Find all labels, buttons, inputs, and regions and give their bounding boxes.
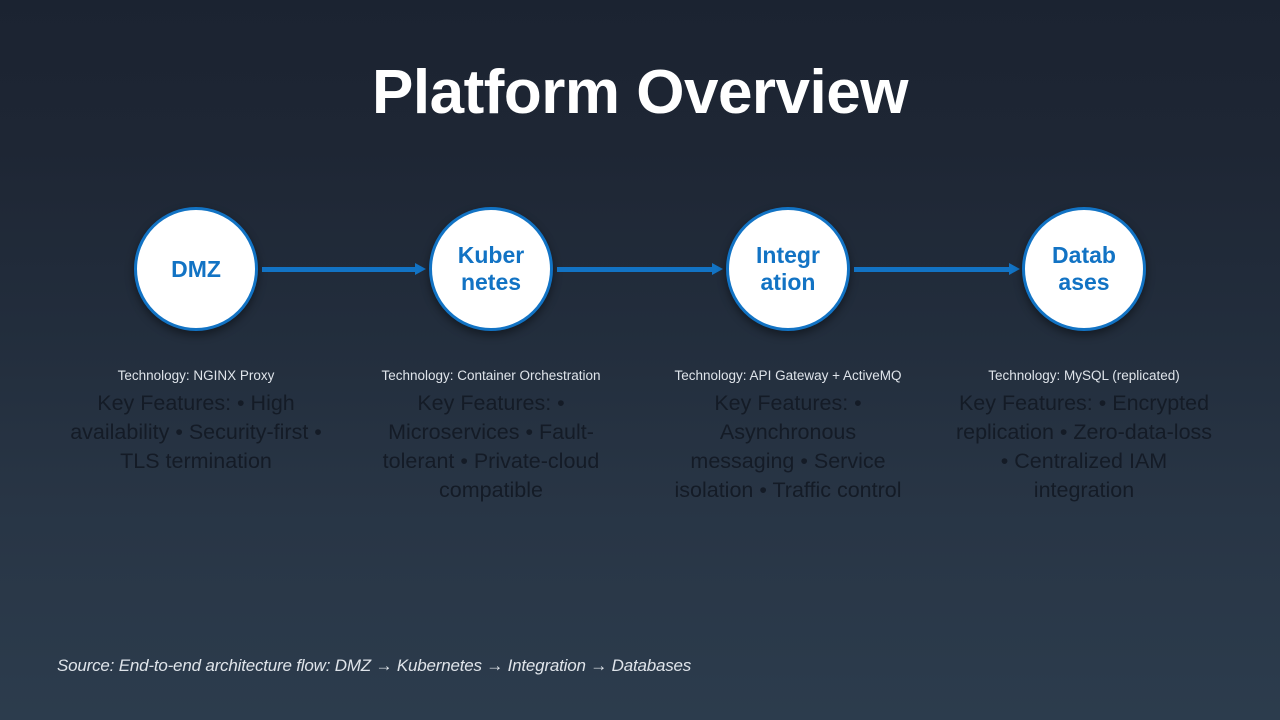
features-line: Key Features: • Microservices • Fault-to… [376,389,606,505]
flow-node-label: Databases [1049,242,1119,296]
flow-node-integration[interactable]: Integration [726,207,850,331]
source-note: Source: End-to-end architecture flow: DM… [57,656,691,676]
technology-line: Technology: NGINX Proxy [66,366,326,387]
node-caption-databases: Technology: MySQL (replicated) Key Featu… [954,366,1214,505]
arrow-head-icon [415,263,426,275]
flow-node-label: Kubernetes [456,242,526,296]
node-caption-dmz: Technology: NGINX Proxy Key Features: • … [66,366,326,476]
technology-line: Technology: API Gateway + ActiveMQ [668,366,908,387]
arrow-shaft [557,267,712,272]
features-line: Key Features: • Asynchronous messaging •… [668,389,908,505]
flow-node-dmz[interactable]: DMZ [134,207,258,331]
flow-node-kubernetes[interactable]: Kubernetes [429,207,553,331]
flow-node-databases[interactable]: Databases [1022,207,1146,331]
page-title: Platform Overview [0,62,1280,124]
arrow-head-icon [1009,263,1020,275]
node-caption-kubernetes: Technology: Container Orchestration Key … [376,366,606,505]
flow-node-label: DMZ [161,256,231,283]
flow-node-label: Integration [753,242,823,296]
technology-line: Technology: MySQL (replicated) [954,366,1214,387]
node-caption-integration: Technology: API Gateway + ActiveMQ Key F… [668,366,908,505]
arrow-shaft [854,267,1009,272]
arrow-shaft [262,267,415,272]
arrow-head-icon [712,263,723,275]
features-line: Key Features: • High availability • Secu… [66,389,326,476]
flow-arrow-integration-to-databases [854,263,1020,275]
flow-arrow-dmz-to-kubernetes [262,263,426,275]
technology-line: Technology: Container Orchestration [376,366,606,387]
flow-arrow-kubernetes-to-integration [557,263,723,275]
flow-diagram: DMZ Kubernetes Integration Databases [0,207,1280,331]
features-line: Key Features: • Encrypted replication • … [954,389,1214,505]
